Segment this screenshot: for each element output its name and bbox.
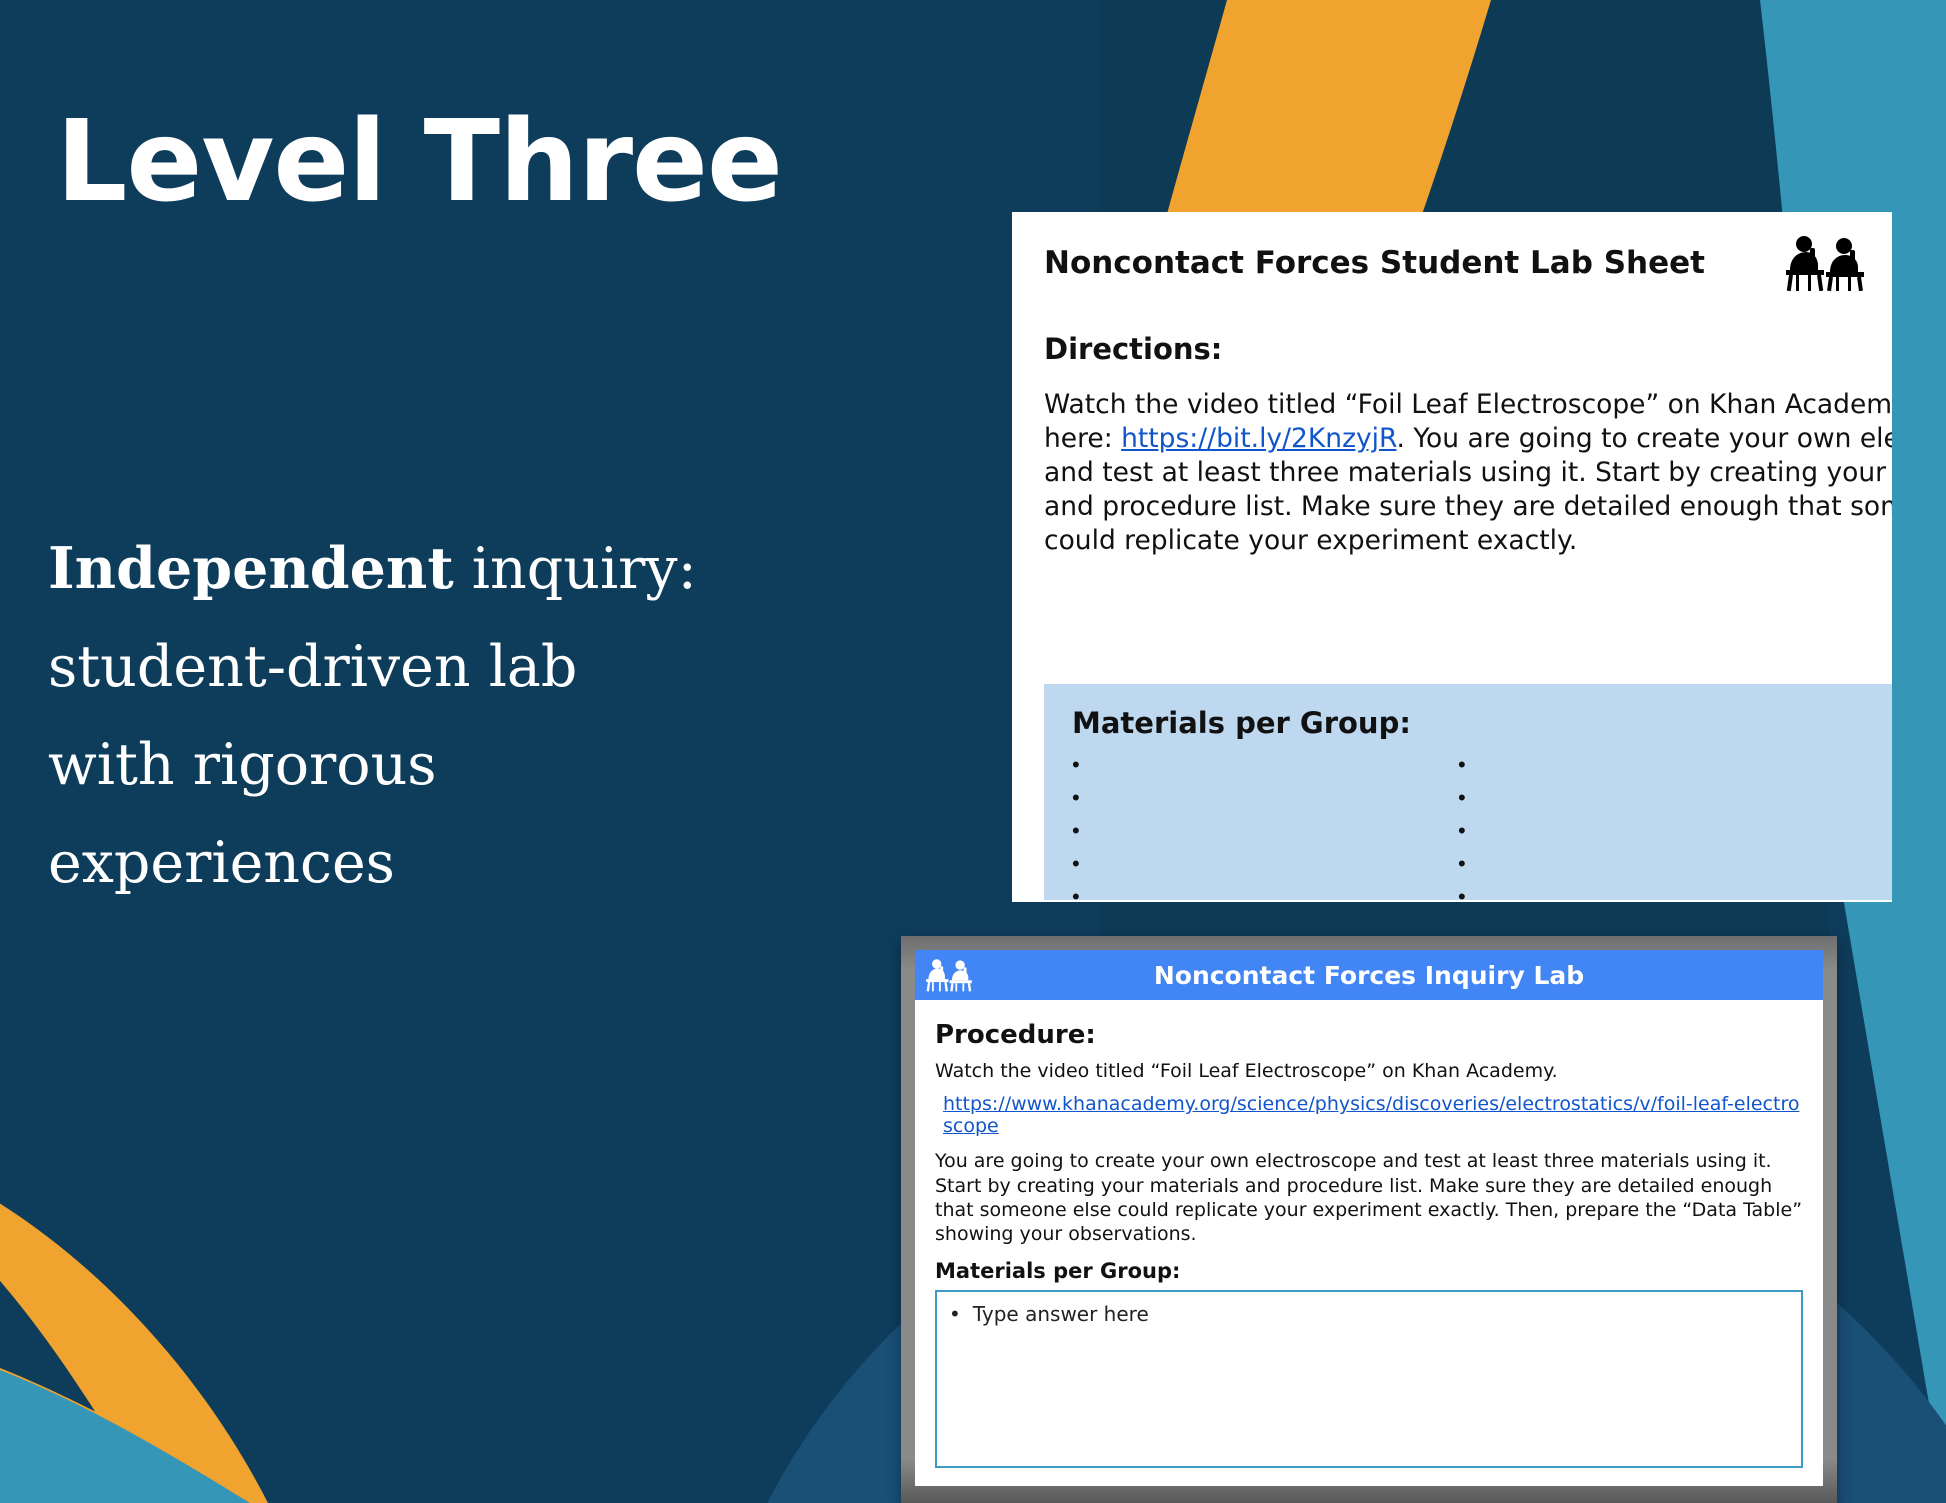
bullet-glyph: • xyxy=(949,1302,961,1326)
khan-academy-link[interactable]: https://www.khanacademy.org/science/phys… xyxy=(943,1093,1803,1137)
list-item xyxy=(1072,783,1458,816)
lab-sheet-title: Noncontact Forces Student Lab Sheet xyxy=(1044,245,1705,281)
students-at-desks-icon xyxy=(925,958,981,992)
directions-after-link: . You are going to create your own ele xyxy=(1397,423,1893,454)
directions-line-5: could replicate your experiment exactly. xyxy=(1044,524,1892,558)
procedure-label: Procedure: xyxy=(935,1020,1803,1050)
window-frame: Noncontact Forces Inquiry Lab Procedure:… xyxy=(901,936,1837,1503)
list-item xyxy=(1072,750,1458,783)
window-title: Noncontact Forces Inquiry Lab xyxy=(915,961,1823,990)
materials-label: Materials per Group: xyxy=(1072,706,1892,740)
list-item xyxy=(1458,816,1844,849)
window-inner: Noncontact Forces Inquiry Lab Procedure:… xyxy=(915,950,1823,1486)
materials-left-column xyxy=(1072,750,1458,902)
list-item xyxy=(1458,849,1844,882)
student-lab-sheet-document: Noncontact Forces Student Lab Sheet xyxy=(1012,212,1892,902)
list-item xyxy=(1458,750,1844,783)
list-item xyxy=(1072,849,1458,882)
list-item xyxy=(1458,882,1844,902)
body-line-4: experiences xyxy=(48,814,848,912)
body-line-1-rest: inquiry: xyxy=(454,536,697,602)
slide-canvas: Level Three Independent inquiry: student… xyxy=(0,0,1946,1503)
window-content: Procedure: Watch the video titled “Foil … xyxy=(915,1000,1823,1486)
list-item xyxy=(1072,816,1458,849)
directions-line-1: Watch the video titled “Foil Leaf Electr… xyxy=(1044,388,1892,422)
lab-sheet-header: Noncontact Forces Student Lab Sheet xyxy=(1012,212,1892,292)
directions-label: Directions: xyxy=(1044,332,1892,366)
directions-here-label: here: xyxy=(1044,423,1121,454)
procedure-body: You are going to create your own electro… xyxy=(935,1149,1803,1246)
list-item xyxy=(1458,783,1844,816)
materials-right-column xyxy=(1458,750,1844,902)
directions-line-2: here: https://bit.ly/2KnzyjR. You are go… xyxy=(1044,422,1892,456)
inquiry-lab-window[interactable]: Noncontact Forces Inquiry Lab Procedure:… xyxy=(901,936,1837,1503)
slide-body-text: Independent inquiry: student-driven lab … xyxy=(48,520,848,912)
materials-answer-input[interactable]: •Type answer here xyxy=(935,1290,1803,1468)
body-line-1: Independent inquiry: xyxy=(48,520,848,618)
body-emphasis: Independent xyxy=(48,535,454,602)
directions-line-3: and test at least three materials using … xyxy=(1044,456,1892,490)
procedure-intro: Watch the video titled “Foil Leaf Electr… xyxy=(935,1059,1803,1083)
bitly-link[interactable]: https://bit.ly/2KnzyjR xyxy=(1121,423,1396,454)
body-line-2: student-driven lab xyxy=(48,618,848,716)
students-at-desks-icon xyxy=(1784,234,1866,292)
directions-line-4: and procedure list. Make sure they are d… xyxy=(1044,490,1892,524)
materials-per-group-box: Materials per Group: xyxy=(1044,684,1892,900)
materials-label: Materials per Group: xyxy=(935,1259,1803,1283)
list-item xyxy=(1072,882,1458,902)
answer-placeholder-text: Type answer here xyxy=(973,1302,1149,1326)
materials-columns xyxy=(1044,750,1892,902)
window-titlebar[interactable]: Noncontact Forces Inquiry Lab xyxy=(915,950,1823,1000)
page-title: Level Three xyxy=(56,104,782,222)
directions-paragraph: Watch the video titled “Foil Leaf Electr… xyxy=(1044,388,1892,558)
body-line-3: with rigorous xyxy=(48,716,848,814)
